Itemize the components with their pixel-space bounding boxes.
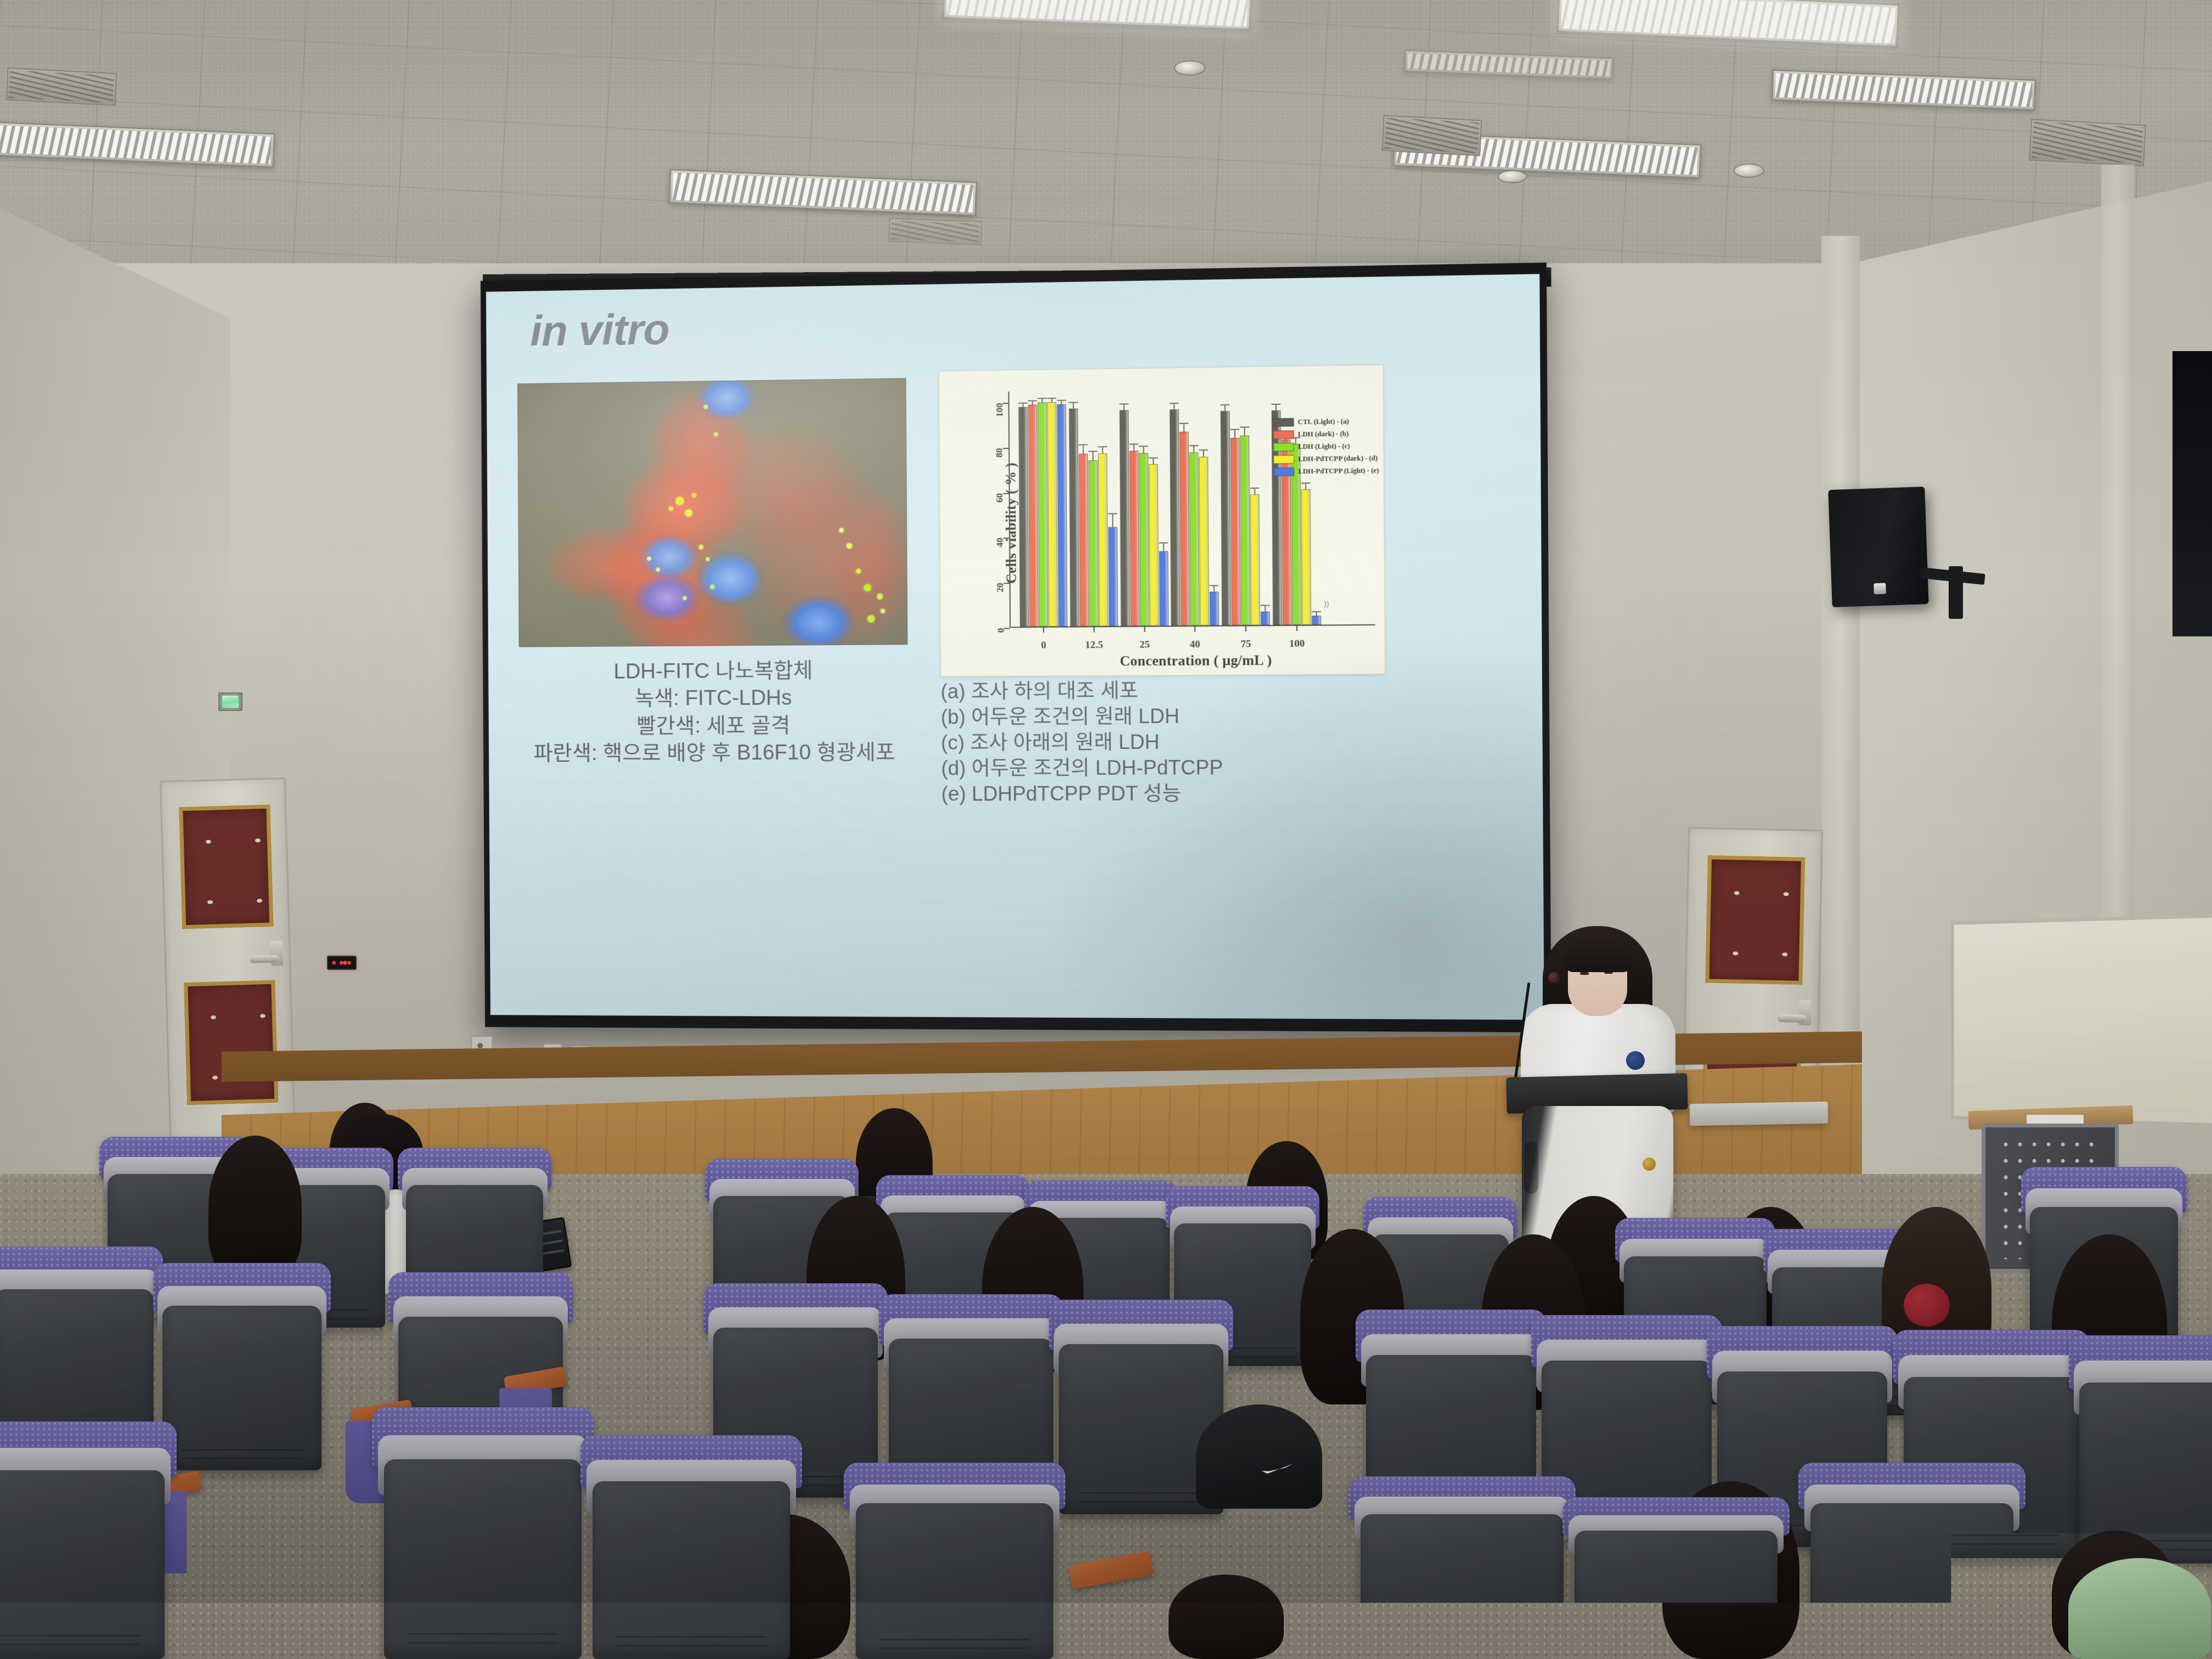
chart-bar — [1301, 489, 1311, 625]
audience-head — [1169, 1575, 1284, 1659]
door-handle[interactable] — [250, 955, 279, 964]
door-panel-upper — [1705, 855, 1805, 985]
chart-error-bar — [1123, 403, 1124, 410]
slide-title: in vitro — [530, 290, 1522, 357]
chart-x-tick-label: 75 — [1240, 638, 1251, 650]
chart-error-bar — [1203, 450, 1204, 457]
chart-bar — [1231, 438, 1241, 625]
chart-caption-line: (b) 어두운 조건의 원래 LDH — [941, 703, 1397, 730]
chart-x-tick-label: 25 — [1139, 639, 1150, 651]
speaker-mount-bracket — [1949, 566, 1963, 619]
emergency-exit-sign — [218, 692, 242, 711]
auditorium-seat[interactable] — [384, 1459, 582, 1659]
wall-mounted-loudspeaker — [1828, 487, 1928, 607]
presenter-shirt-logo — [1626, 1051, 1645, 1070]
chart-error-bar — [1234, 429, 1235, 439]
chart-legend-label: LDH (Light) - (c) — [1298, 442, 1350, 452]
whiteboard — [1951, 914, 2212, 1127]
chart-error-bar — [1073, 402, 1074, 409]
chart-bar — [1199, 456, 1210, 625]
hair-scrunchie — [1904, 1284, 1950, 1327]
chart-y-tick: 100 — [1002, 403, 1008, 404]
chart-error-bar — [1316, 611, 1317, 616]
swoosh-logo-icon — [1262, 1463, 1294, 1474]
chart-x-tick — [1245, 627, 1246, 631]
speaker-badge — [1874, 583, 1887, 594]
chart-bar — [1028, 405, 1039, 627]
chart-error-bar — [1042, 398, 1043, 403]
gooseneck-microphone-head — [1548, 972, 1559, 983]
chart-error-bar — [1265, 605, 1266, 612]
chart-error-bar — [1092, 451, 1093, 461]
chart-error-bar — [1183, 423, 1184, 433]
chart-corner-mark: )) — [1324, 599, 1329, 607]
chart-x-tick-label: 40 — [1190, 638, 1200, 650]
chart-bar-group: 0 — [1017, 391, 1069, 627]
chart-y-axis — [1008, 392, 1011, 628]
ceiling-air-vent — [6, 67, 117, 106]
chart-legend-label: LDH (dark) - (b) — [1298, 430, 1349, 439]
chart-error-bar — [1214, 585, 1215, 592]
door-panel-upper — [179, 804, 274, 929]
chart-caption-line: (e) LDHPdTCPP PDT 성능 — [941, 781, 1398, 808]
chart-bar — [1312, 616, 1321, 625]
chart-bar — [1210, 591, 1219, 625]
chart-error-bar — [1254, 487, 1255, 494]
chart-bar — [1047, 402, 1058, 627]
chart-x-tick-label: 12.5 — [1085, 639, 1103, 651]
auditorium-seat[interactable] — [0, 1470, 165, 1659]
chart-x-tick — [1194, 627, 1195, 631]
chart-bar — [1108, 527, 1118, 626]
slide-body: Cells viability ( % ) 020406080100 012.5… — [505, 359, 1528, 1013]
lecture-hall-door-left[interactable] — [160, 777, 296, 1143]
chart-error-bar — [1061, 400, 1062, 405]
chart-y-tick: 80 — [1003, 448, 1008, 449]
chart-bar — [1170, 409, 1180, 625]
chart-error-bar — [1173, 403, 1175, 410]
chart-caption-line: (c) 조사 아래의 원래 LDH — [941, 729, 1397, 756]
ceiling-downlight — [1734, 163, 1764, 178]
chart-x-tick-label: 100 — [1289, 637, 1305, 650]
chart-y-tick-label: 0 — [995, 628, 1007, 633]
micrograph-vignette — [518, 379, 907, 646]
micrograph-caption-line: 빨간색: 세포 골격 — [512, 712, 917, 741]
window — [2172, 351, 2212, 636]
chart-bar — [1129, 450, 1139, 626]
chart-legend-swatch — [1273, 418, 1294, 427]
chart-bar — [1159, 551, 1168, 625]
chart-legend-caption: (a) 조사 하의 대조 세포(b) 어두운 조건의 원래 LDH(c) 조사 … — [940, 676, 1397, 807]
wall-column — [1821, 236, 1860, 1169]
chart-error-bar — [1244, 426, 1245, 436]
ceiling-air-vent — [2029, 119, 2146, 167]
chart-legend-label: CTL (Light) - (a) — [1297, 417, 1348, 427]
ceiling-downlight — [1174, 60, 1206, 76]
auditorium-seat[interactable] — [856, 1503, 1053, 1659]
projection-screen[interactable]: in vitro Cells viability ( % ) 0204060 — [481, 263, 1551, 1032]
chart-y-tick-label: 100 — [994, 403, 1005, 417]
chart-error-bar — [1112, 513, 1113, 528]
chart-error-bar — [1224, 404, 1226, 411]
chart-bar — [1057, 404, 1068, 627]
chart-bar — [1098, 453, 1109, 626]
chart-y-tick-label: 40 — [995, 538, 1006, 547]
chart-bar — [1250, 494, 1260, 625]
micrograph-caption-line: 파란색: 핵으로 배양 후 B16F10 형광세포 — [512, 739, 917, 768]
chart-legend-label: LDH-PdTCPP (dark) - (d) — [1298, 454, 1378, 464]
side-shelf — [1690, 1102, 1829, 1126]
chart-error-bar — [1275, 404, 1276, 411]
chart-y-tick: 20 — [1003, 583, 1009, 584]
chart-y-tick-label: 60 — [994, 493, 1006, 502]
micrograph-caption-line: LDH-FITC 나노복합체 — [511, 657, 917, 686]
ceiling-downlight — [1498, 170, 1527, 183]
chart-legend-label: LDH-PdTCPP (Light) - (e) — [1298, 466, 1379, 476]
lecture-hall-scene: in vitro Cells viability ( % ) 0204060 — [0, 0, 2212, 1659]
chart-error-bar — [1193, 445, 1194, 453]
green-cap — [2068, 1558, 2211, 1659]
chart-legend-swatch — [1273, 443, 1294, 452]
chart-bar — [1088, 460, 1098, 626]
chart-error-bar — [1143, 446, 1144, 453]
chart-bar-group: 40 — [1169, 389, 1221, 626]
chart-legend-item: LDH (dark) - (b) — [1273, 430, 1379, 439]
chart-bar — [1149, 464, 1159, 625]
chart-x-axis-label: Concentration ( μg/mL ) — [1014, 652, 1379, 670]
chart-y-tick: 0 — [1004, 628, 1009, 629]
chart-bar — [1038, 402, 1048, 627]
chart-y-tick-label: 80 — [994, 448, 1005, 458]
room-status-led-display — [327, 956, 357, 970]
chart-bar — [1189, 452, 1200, 625]
chart-bar — [1019, 407, 1029, 627]
black-baseball-cap — [1196, 1404, 1322, 1509]
chart-bar — [1261, 612, 1270, 625]
chart-legend-item: LDH-PdTCPP (dark) - (d) — [1273, 454, 1379, 464]
fluorescence-micrograph — [517, 378, 908, 647]
door-panel-lower — [184, 980, 278, 1105]
audience-head — [208, 1136, 302, 1278]
door-handle[interactable] — [1778, 1014, 1807, 1023]
ceiling-air-vent — [888, 218, 982, 245]
chart-legend-item: LDH (Light) - (c) — [1273, 442, 1379, 452]
podium-side-slot — [1524, 1141, 1538, 1194]
micrograph-caption-line: 녹색: FITC-LDHs — [511, 684, 917, 713]
chart-error-bar — [1102, 447, 1103, 454]
chart-error-bar — [1133, 444, 1134, 451]
chart-legend-swatch — [1273, 467, 1294, 476]
projection-surface: in vitro Cells viability ( % ) 0204060 — [486, 274, 1544, 1020]
chart-bar — [1069, 409, 1079, 627]
chart-legend-item: CTL (Light) - (a) — [1273, 417, 1378, 427]
chart-error-bar — [1163, 542, 1164, 552]
chart-x-tick — [1144, 627, 1145, 632]
chart-y-tick: 60 — [1003, 493, 1008, 494]
auditorium-seat[interactable] — [1361, 1514, 1564, 1659]
auditorium-seat[interactable] — [1575, 1531, 1778, 1659]
chart-bar — [1240, 436, 1250, 625]
chart-x-tick — [1043, 628, 1044, 633]
chart-bar — [1119, 410, 1130, 626]
chart-bar — [1180, 432, 1190, 625]
chart-error-bar — [1153, 457, 1154, 464]
chart-y-tick-label: 20 — [995, 583, 1006, 592]
chart-bar — [1079, 453, 1089, 626]
chart-bar — [1221, 411, 1231, 625]
chart-legend-swatch — [1273, 431, 1294, 439]
chart-y-tick: 40 — [1003, 538, 1009, 539]
micrograph-caption: LDH-FITC 나노복합체녹색: FITC-LDHs빨간색: 세포 골격파란색… — [511, 657, 917, 768]
chart-error-bar — [1032, 400, 1033, 405]
chart-bar-group: 25 — [1118, 390, 1170, 626]
chart-error-bar — [1051, 398, 1052, 403]
chart-error-bar — [1305, 482, 1306, 489]
cell-viability-bar-chart: Cells viability ( % ) 020406080100 012.5… — [939, 364, 1385, 676]
chart-legend: CTL (Light) - (a)LDH (dark) - (b)LDH (Li… — [1273, 417, 1379, 476]
chart-error-bar — [1023, 403, 1024, 408]
chart-x-tick — [1296, 626, 1297, 631]
chart-legend-swatch — [1273, 455, 1294, 464]
chart-caption-line: (d) 어두운 조건의 LDH-PdTCPP — [941, 754, 1397, 781]
chart-error-bar — [1082, 444, 1084, 454]
chart-bar-group: 12.5 — [1068, 390, 1119, 627]
presentation-slide: in vitro Cells viability ( % ) 0204060 — [486, 274, 1544, 1020]
auditorium-seat[interactable] — [592, 1481, 790, 1659]
chart-bar-group: 75 — [1219, 388, 1271, 625]
ceiling-air-vent — [1381, 115, 1482, 156]
chart-caption-line: (a) 조사 하의 대조 세포 — [940, 676, 1397, 704]
podium-emblem — [1643, 1158, 1656, 1171]
chart-x-tick — [1093, 627, 1094, 632]
chart-x-tick-label: 0 — [1041, 639, 1047, 651]
chart-bar — [1139, 453, 1149, 626]
paper-on-lectern — [2027, 1115, 2084, 1124]
chart-legend-item: LDH-PdTCPP (Light) - (e) — [1273, 466, 1379, 476]
auditorium-seat[interactable] — [162, 1306, 321, 1470]
auditorium-seat[interactable] — [1810, 1503, 2013, 1659]
